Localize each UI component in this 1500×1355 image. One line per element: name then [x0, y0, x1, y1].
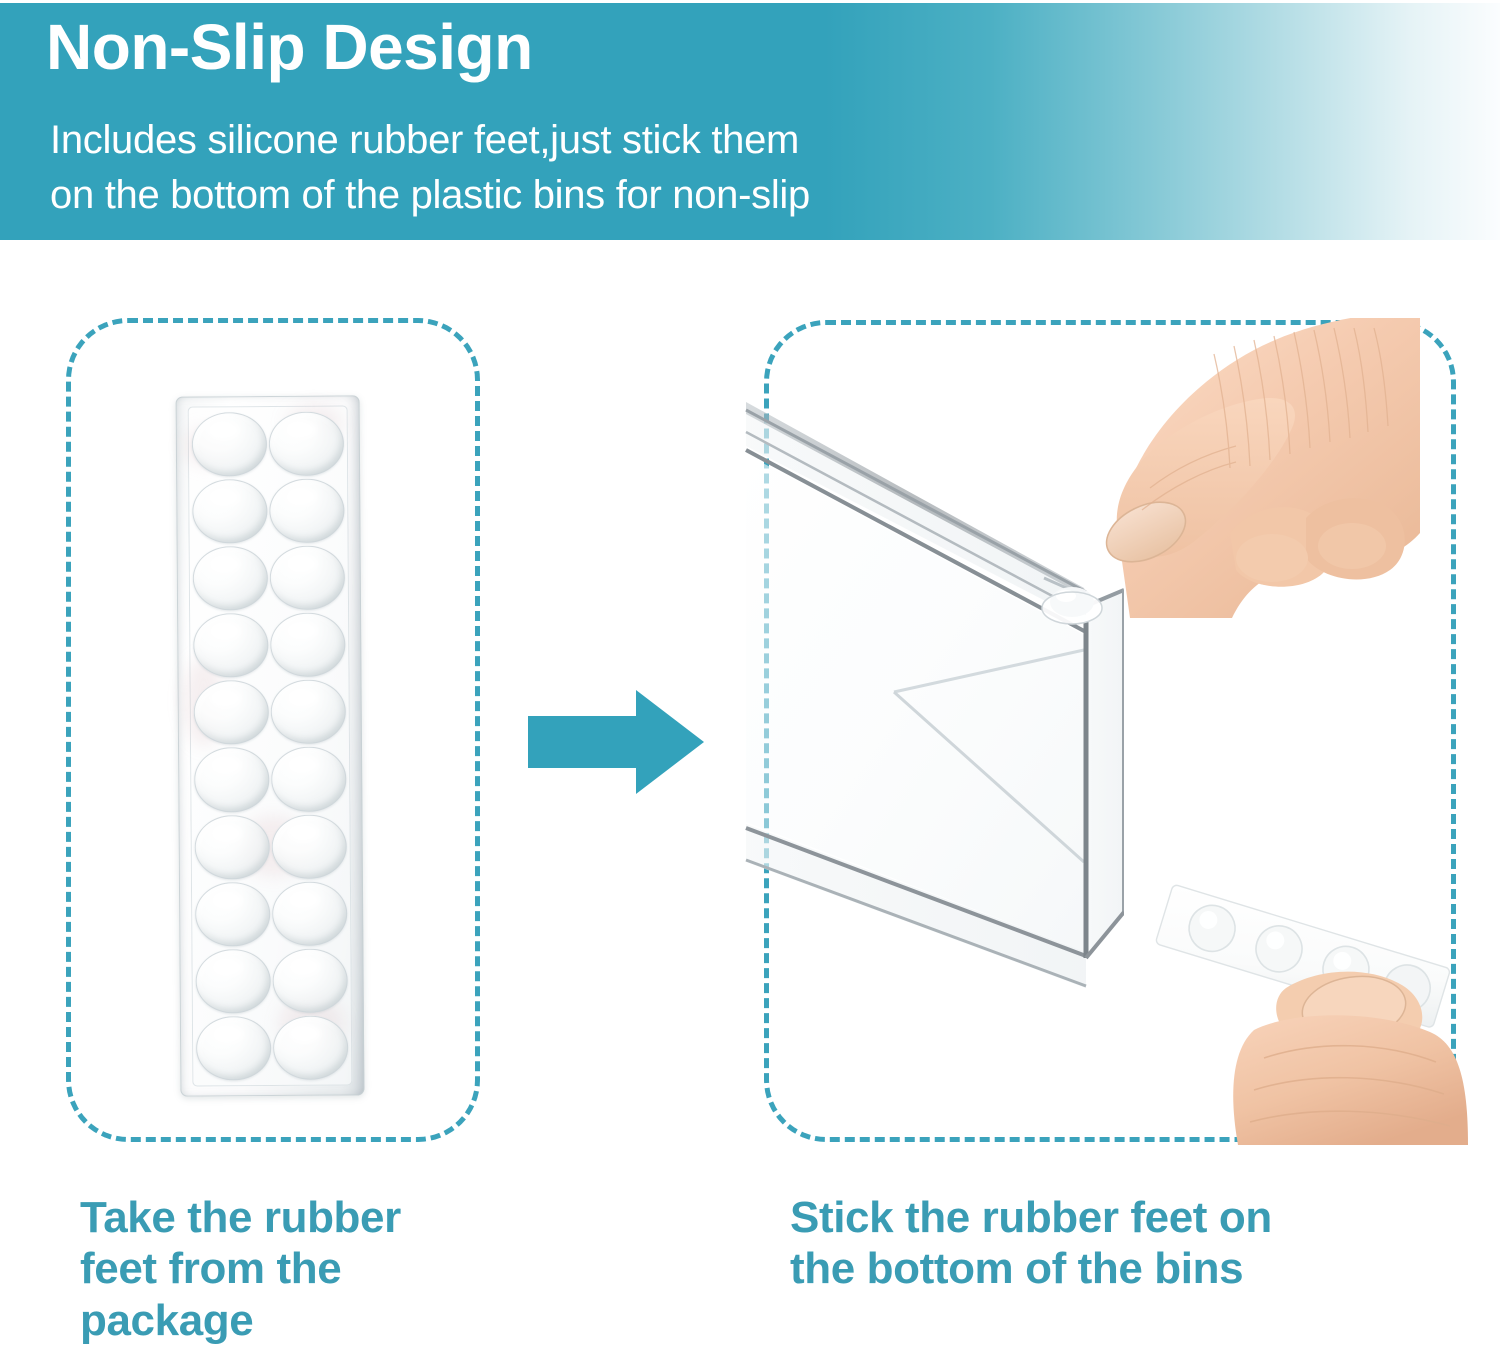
rubber-foot [194, 747, 269, 812]
rubber-foot [195, 949, 270, 1014]
rubber-foot [271, 814, 346, 879]
rubber-foot [194, 680, 269, 745]
rubber-foot [272, 948, 347, 1013]
rubber-foot [195, 882, 270, 947]
rubber-foot [192, 412, 267, 477]
step-1-caption: Take the rubber feet from the package [80, 1192, 550, 1346]
blister-pack-image [176, 395, 365, 1096]
rubber-foot [271, 747, 346, 812]
rubber-foot [271, 680, 346, 745]
step-2-caption: Stick the rubber feet on the bottom of t… [790, 1192, 1450, 1295]
rubber-foot [193, 546, 268, 611]
flow-arrow-icon [528, 690, 704, 794]
rubber-foot [270, 613, 345, 678]
rubber-foot [194, 815, 269, 880]
rubber-foot [193, 613, 268, 678]
hand-holding-strip [1168, 880, 1468, 1145]
page-title: Non-Slip Design [46, 14, 533, 81]
rubber-foot [192, 479, 267, 544]
rubber-foot [269, 411, 344, 476]
rubber-foot [270, 546, 345, 611]
rubber-feet-grid [192, 411, 349, 1080]
header-banner: Non-Slip Design Includes silicone rubber… [0, 3, 1500, 240]
page-subtitle: Includes silicone rubber feet,just stick… [50, 113, 810, 223]
rubber-foot [273, 1015, 348, 1080]
rubber-foot [272, 881, 347, 946]
rubber-foot [269, 479, 344, 544]
hand-pressing-foot [1000, 318, 1420, 618]
rubber-foot [196, 1016, 271, 1081]
